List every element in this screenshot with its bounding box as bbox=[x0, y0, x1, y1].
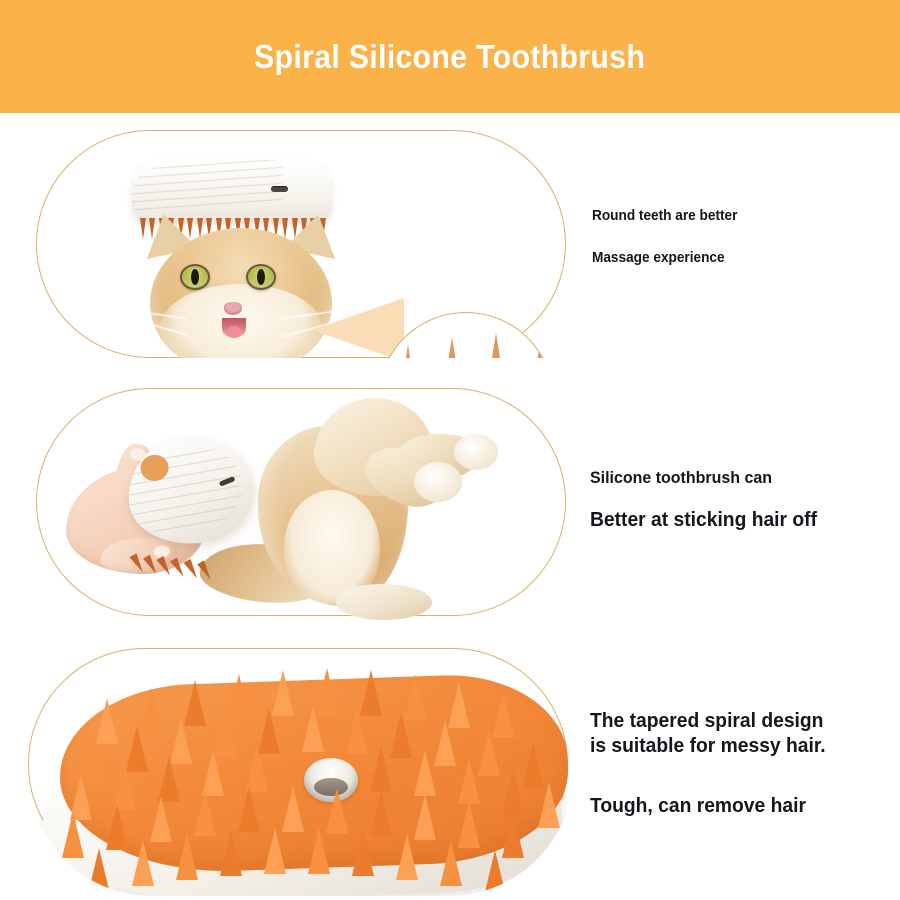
cat-eye-right bbox=[246, 264, 276, 290]
cat-paw-1 bbox=[414, 462, 462, 502]
panel-3-line-2: is suitable for messy hair. bbox=[590, 733, 826, 758]
feature-panel-2: Silicone toothbrush can Better at sticki… bbox=[0, 378, 900, 640]
cat-paw-2 bbox=[454, 434, 498, 470]
panel-2-photo bbox=[36, 388, 566, 620]
panel-3-photo bbox=[28, 648, 573, 896]
cat-eye-left bbox=[180, 264, 210, 290]
panel-3-line-3: Tough, can remove hair bbox=[590, 793, 806, 818]
page-title: Spiral Silicone Toothbrush bbox=[254, 38, 645, 76]
cat-nose bbox=[224, 302, 242, 315]
cat-standing-image bbox=[218, 398, 518, 620]
panel-2-line-1: Silicone toothbrush can bbox=[590, 468, 772, 488]
panel-1-line-2: Massage experience bbox=[592, 250, 725, 266]
feature-panel-1: Round teeth are better Massage experienc… bbox=[0, 113, 900, 378]
header-banner: Spiral Silicone Toothbrush bbox=[0, 0, 900, 113]
product-infographic: Spiral Silicone Toothbrush bbox=[0, 0, 900, 900]
panel-3-line-1: The tapered spiral design bbox=[590, 708, 826, 733]
panel-1-line-1: Round teeth are better bbox=[592, 208, 737, 224]
cat-mouth bbox=[222, 318, 246, 338]
feature-panel-3: The tapered spiral design is suitable fo… bbox=[0, 640, 900, 900]
panel-1-photo bbox=[36, 130, 566, 358]
usb-port-icon bbox=[271, 186, 288, 192]
magnifier-circle bbox=[378, 312, 554, 358]
cat-hind-paw bbox=[336, 584, 432, 620]
magnified-bristles bbox=[378, 312, 554, 358]
panel-2-line-2: Better at sticking hair off bbox=[590, 507, 817, 532]
panel-3-paragraph-1: The tapered spiral design is suitable fo… bbox=[590, 708, 841, 758]
brush-head-closeup bbox=[36, 662, 573, 896]
